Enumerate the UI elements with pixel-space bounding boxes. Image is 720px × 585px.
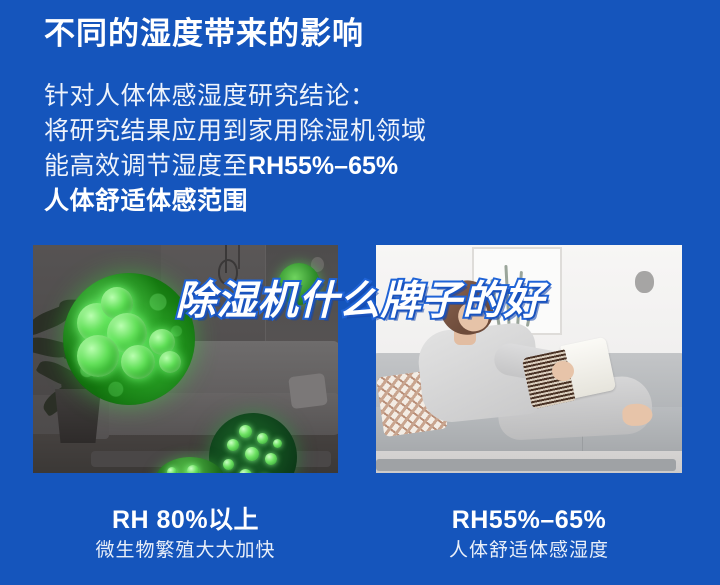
- microbe-bump: [239, 425, 252, 438]
- microbe-bump: [187, 465, 199, 473]
- page-title: 不同的湿度带来的影响: [44, 14, 684, 54]
- dark-room-scene: [33, 245, 338, 473]
- body-line-1: 针对人体体感湿度研究结论：: [44, 79, 684, 114]
- caption-right: RH55%–65% 人体舒适体感湿度: [376, 505, 682, 563]
- microbe-bump: [273, 439, 282, 448]
- image-panels: [0, 245, 720, 473]
- caption-right-title: RH55%–65%: [376, 505, 682, 535]
- microbe-cell: [159, 351, 181, 373]
- microbe-cell: [121, 345, 155, 379]
- microbe-sphere-small: [278, 263, 320, 305]
- body-line-3-prefix: 能高效调节湿度至: [44, 152, 248, 180]
- woman-reading: [402, 275, 652, 455]
- sofa-cushion: [288, 373, 328, 409]
- caption-row: RH 80%以上 微生物繁殖大大加快 RH55%–65% 人体舒适体感湿度: [0, 505, 720, 585]
- caption-left-title: RH 80%以上: [33, 505, 338, 535]
- body-line-4: 人体舒适体感范围: [44, 184, 684, 219]
- body-line-3-strong: RH55%–65%: [248, 152, 398, 180]
- microbe-bump: [227, 439, 239, 451]
- microbe-cluster-large: [63, 273, 195, 405]
- header: 不同的湿度带来的影响: [44, 14, 684, 54]
- caption-right-subtitle: 人体舒适体感湿度: [376, 539, 682, 563]
- microbe-cell: [77, 335, 119, 377]
- microbe-bump: [265, 453, 277, 465]
- panel-left-high-humidity: [33, 245, 338, 473]
- pendant-lamp-cord-secondary-icon: [238, 245, 240, 269]
- panel-right-comfort-humidity: [376, 245, 682, 473]
- microbe-bump: [245, 447, 259, 461]
- caption-left: RH 80%以上 微生物繁殖大大加快: [33, 505, 338, 563]
- microbe-bump: [257, 433, 268, 444]
- microbe-bump: [167, 467, 177, 473]
- pendant-lamp-cord-icon: [225, 245, 227, 273]
- body-copy: 针对人体体感湿度研究结论： 将研究结果应用到家用除湿机领域 能高效调节湿度至RH…: [44, 79, 684, 219]
- sofa-base: [376, 459, 676, 471]
- bright-room-scene: [376, 245, 682, 473]
- person-foot: [622, 403, 653, 427]
- body-line-3: 能高效调节湿度至RH55%–65%: [44, 149, 684, 184]
- caption-left-subtitle: 微生物繁殖大大加快: [33, 539, 338, 563]
- person-hand: [552, 361, 574, 381]
- microbe-bump: [239, 469, 252, 473]
- microbe-bump: [223, 459, 234, 470]
- body-line-2: 将研究结果应用到家用除湿机领域: [44, 114, 684, 149]
